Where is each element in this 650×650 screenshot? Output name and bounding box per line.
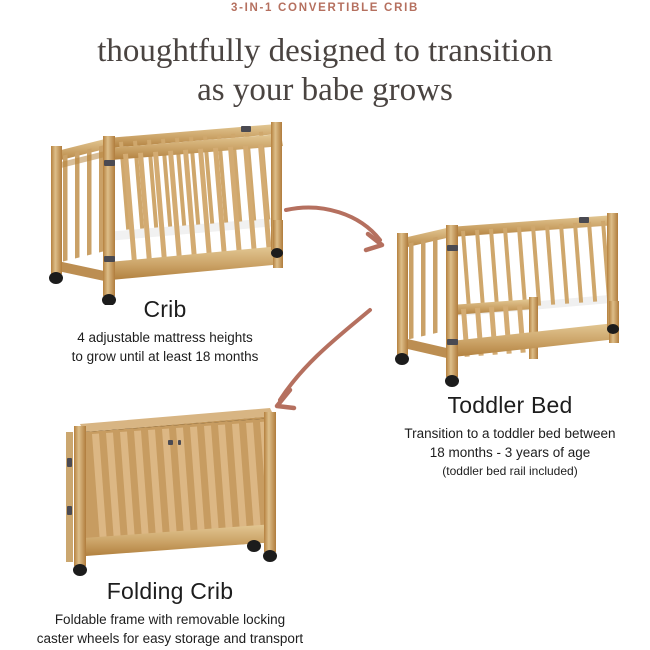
toddler-desc-line-2: 18 months - 3 years of age — [430, 445, 591, 460]
toddler-back-slats — [449, 215, 617, 311]
crib-desc-line-1: 4 adjustable mattress heights — [77, 330, 253, 345]
toddler-bed-label-title: Toddler Bed — [380, 392, 640, 419]
crib-illustration — [45, 120, 295, 305]
folding-desc-line-2: caster wheels for easy storage and trans… — [37, 631, 303, 646]
page-title: thoughtfully designed to transition as y… — [0, 32, 650, 110]
folding-desc-line-1: Foldable frame with removable locking — [55, 612, 285, 627]
toddler-bed-illustration — [393, 213, 628, 388]
crib-label-title: Crib — [30, 296, 300, 323]
toddler-bed-label-description: Transition to a toddler bed between 18 m… — [370, 424, 650, 481]
folding-crib-label-title: Folding Crib — [20, 578, 320, 605]
toddler-desc-line-3: (toddler bed rail included) — [370, 462, 650, 481]
folding-crib-illustration — [58, 402, 293, 580]
headline-line-1: thoughtfully designed to transition — [97, 33, 553, 69]
toddler-desc-line-1: Transition to a toddler bed between — [404, 426, 615, 441]
crib-label-description: 4 adjustable mattress heights to grow un… — [30, 328, 300, 366]
folding-crib-label-description: Foldable frame with removable locking ca… — [10, 610, 330, 648]
eyebrow-label: 3-IN-1 CONVERTIBLE CRIB — [0, 2, 650, 14]
headline-line-2: as your babe grows — [0, 71, 650, 110]
crib-desc-line-2: to grow until at least 18 months — [72, 349, 259, 364]
